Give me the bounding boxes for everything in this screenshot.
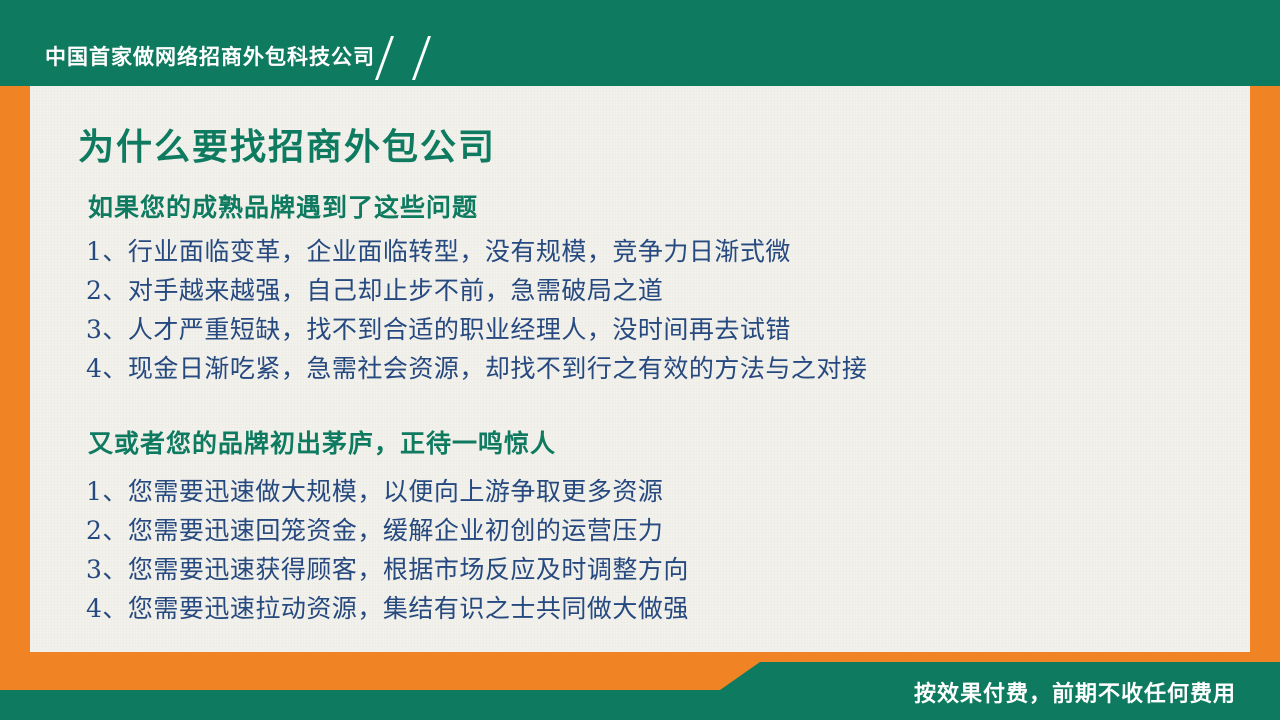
section-one-heading: 如果您的成熟品牌遇到了这些问题 [88, 188, 478, 224]
list-item: 1、行业面临变革，企业面临转型，没有规模，竞争力日渐式微 [86, 232, 867, 271]
list-item: 3、您需要迅速获得顾客，根据市场反应及时调整方向 [86, 550, 689, 589]
slide-root: 中国首家做网络招商外包科技公司 为什么要找招商外包公司 如果您的成熟品牌遇到了这… [0, 0, 1280, 720]
list-item: 4、您需要迅速拉动资源，集结有识之士共同做大做强 [86, 589, 689, 628]
header-tag: 中国首家做网络招商外包科技公司 [0, 36, 433, 80]
section-two-heading: 又或者您的品牌初出茅庐，正待一鸣惊人 [88, 424, 556, 460]
footer-label: 按效果付费，前期不收任何费用 [914, 676, 1236, 708]
page-title: 为什么要找招商外包公司 [78, 118, 496, 170]
header-tag-label: 中国首家做网络招商外包科技公司 [0, 36, 375, 80]
list-item: 4、现金日渐吃紧，急需社会资源，却找不到行之有效的方法与之对接 [86, 349, 867, 388]
section-two-list: 1、您需要迅速做大规模，以便向上游争取更多资源 2、您需要迅速回笼资金，缓解企业… [86, 472, 689, 628]
list-item: 3、人才严重短缺，找不到合适的职业经理人，没时间再去试错 [86, 310, 867, 349]
list-item: 2、您需要迅速回笼资金，缓解企业初创的运营压力 [86, 511, 689, 550]
list-item: 2、对手越来越强，自己却止步不前，急需破局之道 [86, 271, 867, 310]
section-one-list: 1、行业面临变革，企业面临转型，没有规模，竞争力日渐式微 2、对手越来越强，自己… [86, 232, 867, 388]
list-item: 1、您需要迅速做大规模，以便向上游争取更多资源 [86, 472, 689, 511]
